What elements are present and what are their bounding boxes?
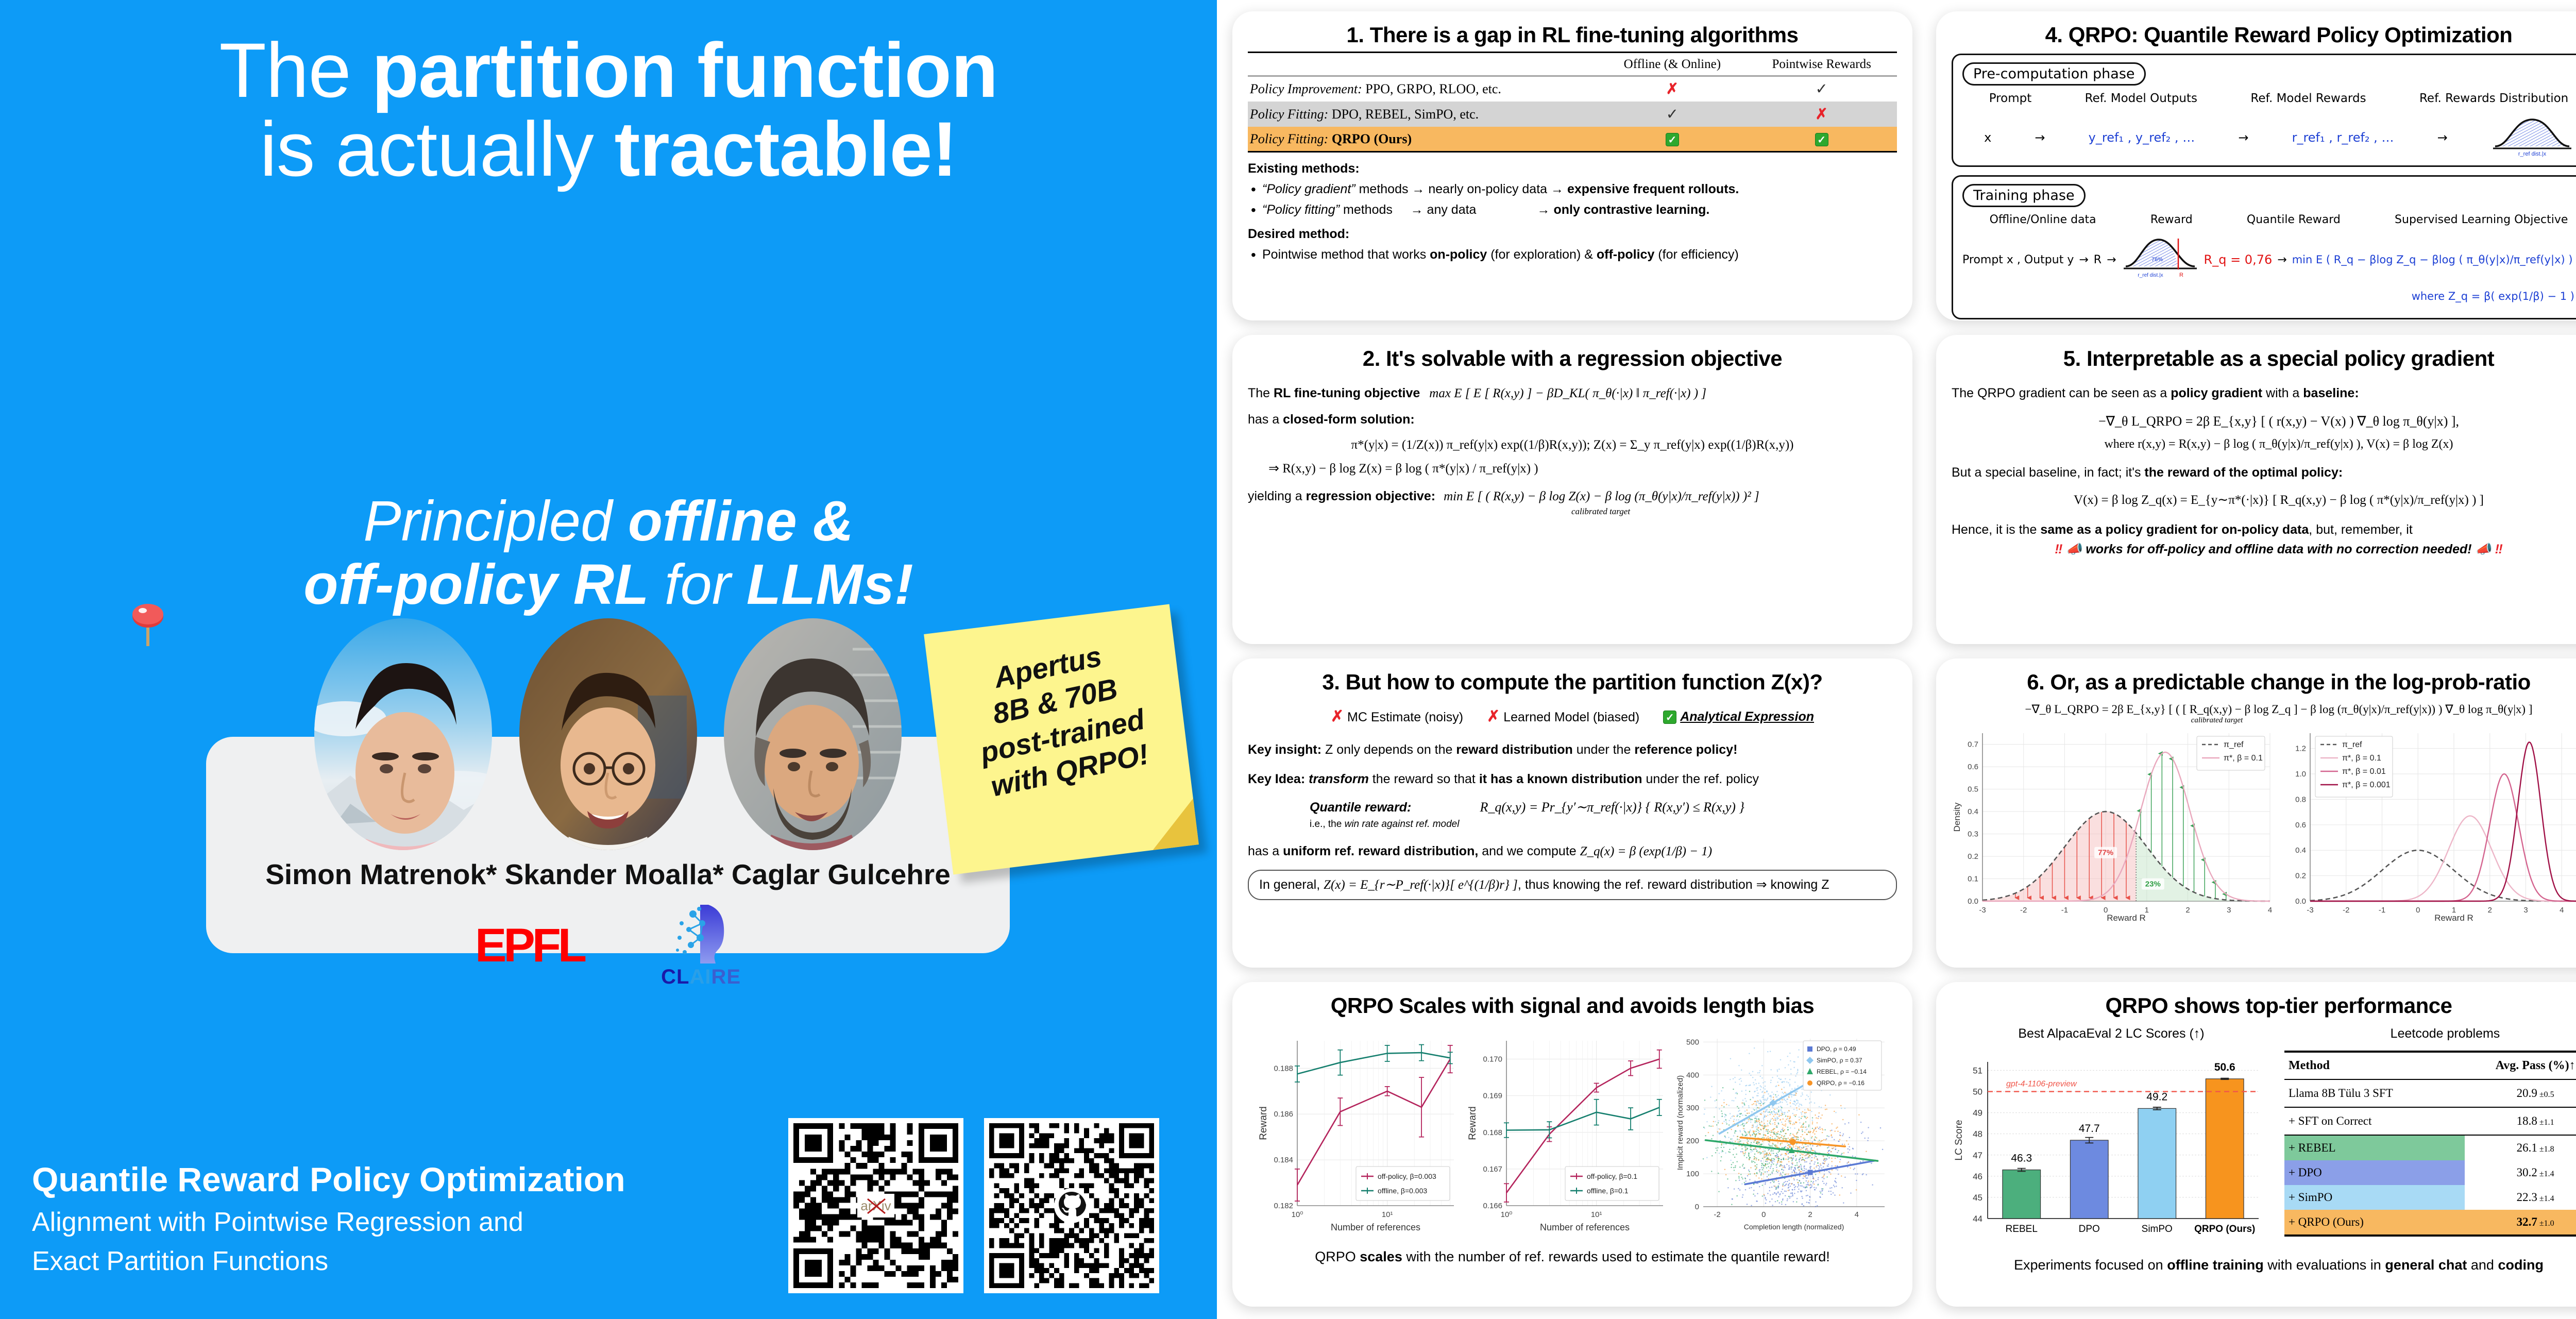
svg-text:Number of references: Number of references — [1331, 1222, 1420, 1232]
svg-text:4: 4 — [2268, 906, 2272, 915]
github-badge-icon — [1053, 1187, 1091, 1225]
card4-title: 4. QRPO: Quantile Reward Policy Optimiza… — [1952, 23, 2576, 47]
svg-text:0.4: 0.4 — [2295, 846, 2306, 855]
svg-text:500: 500 — [1686, 1038, 1699, 1046]
svg-text:0.166: 0.166 — [1483, 1202, 1502, 1210]
leetcode-table-wrap: Leetcode problems Method Avg. Pass (%)↑ … — [2284, 1026, 2576, 1250]
quantile-reward-label: Quantile reward: — [1310, 799, 1459, 817]
svg-text:Number of references: Number of references — [1540, 1222, 1630, 1232]
paper-subtitle-line2: Exact Partition Functions — [32, 1245, 805, 1278]
svg-text:off-policy, β=0.1: off-policy, β=0.1 — [1587, 1172, 1637, 1180]
row1-label-italic: Policy Fitting: — [1250, 107, 1328, 122]
phase2-h3: Supervised Learning Objective — [2395, 213, 2568, 226]
eq-regression: min E [ ( R(x,y) − β log Z(x) − β log (π… — [1444, 487, 1759, 505]
row0-label-rest: PPO, GRPO, RLOO, etc. — [1362, 81, 1501, 96]
svg-text:1.0: 1.0 — [2295, 770, 2306, 779]
eq-r-and-v: where r(x,y) = R(x,y) − β log ( π_θ(y|x)… — [1952, 437, 2576, 451]
svg-text:0.188: 0.188 — [1274, 1064, 1293, 1073]
table-row: + SFT on Correct 18.8 ±1.1 — [2284, 1107, 2576, 1135]
claire-logo: CLAIRE — [661, 903, 741, 989]
chart-density-right: 0.00.20.40.60.81.01.2-3-2-1012345π_refπ*… — [2279, 728, 2576, 925]
phase2-h0: Offline/Online data — [1990, 213, 2096, 226]
card5-line2: But a special baseline, in fact; it's th… — [1952, 464, 2576, 482]
pushpin-icon — [131, 604, 164, 648]
table-row: + REBEL 26.1 ±1.8 — [2284, 1135, 2576, 1160]
svg-text:47: 47 — [1973, 1151, 1982, 1160]
phase1-h2: Ref. Model Rewards — [2250, 92, 2366, 105]
desired-bold2: off-policy — [1597, 247, 1655, 262]
svg-text:DPO, ρ = 0.49: DPO, ρ = 0.49 — [1817, 1045, 1856, 1053]
row2-offline: ✓ — [1598, 127, 1746, 152]
row1-label-rest: DPO, REBEL, SimPO, etc. — [1328, 107, 1479, 122]
bullet0-mid: methods → nearly on-policy data → — [1355, 182, 1567, 196]
desired-post: (for efficiency) — [1654, 247, 1738, 262]
hero-panel: The partition function is actually tract… — [0, 0, 1217, 1319]
svg-text:-2: -2 — [2343, 906, 2349, 915]
card5-title: 5. Interpretable as a special policy gra… — [1952, 346, 2576, 371]
ref-reward-distribution-icon: r_ref dist.|x — [2491, 114, 2573, 158]
row0-pointwise: ✓ — [1746, 76, 1897, 102]
sticky-note-fold — [1147, 799, 1199, 850]
desired-pre: Pointwise method that works — [1262, 247, 1430, 262]
alpaca-bar-wrap: Best AlpacaEval 2 LC Scores (↑) 44454647… — [1952, 1026, 2271, 1250]
phase2-objective: min E ( R_q − βlog Z_q − βlog ( π_θ(y|x)… — [2292, 253, 2576, 266]
svg-text:2: 2 — [1808, 1210, 1812, 1219]
x-icon: ✗ — [1487, 708, 1500, 725]
chart-length-bias: 0100200300400500-2024DPO, ρ = 0.49SimPO,… — [1673, 1031, 1890, 1238]
eq-implies: ⇒ R(x,y) − β log Z(x) = β log ( π*(y|x) … — [1248, 461, 1897, 476]
svg-text:10⁰: 10⁰ — [1501, 1210, 1513, 1219]
claire-head-icon — [670, 903, 732, 963]
desired-method-list: Pointwise method that works on-policy (f… — [1248, 246, 1897, 264]
arrow-icon: → — [2277, 253, 2286, 266]
svg-text:R: R — [2179, 272, 2183, 278]
svg-text:0.6: 0.6 — [2295, 821, 2306, 830]
option-learned-model: ✗ Learned Model (biased) — [1487, 706, 1639, 728]
bullet0-bold: expensive frequent rollouts. — [1567, 182, 1739, 196]
table-row-ours: + QRPO (Ours) 32.7 ±1.0 — [2284, 1210, 2576, 1236]
table-row: + DPO 30.2 ±1.4 — [2284, 1160, 2576, 1185]
phase2-where: where Z_q = β( exp(1/β) − 1 ) — [1962, 290, 2576, 302]
qr-codes: arXiv — [788, 1118, 1159, 1293]
phase2-flow: Prompt x , Output y → R → 76% r_ref dist… — [1962, 234, 2576, 285]
phase2-headers: Offline/Online data Reward Quantile Rewa… — [1962, 213, 2576, 226]
bullet1-quote: “Policy fitting” — [1262, 202, 1340, 217]
phase2-rq: R_q = 0,76 — [2204, 252, 2273, 267]
svg-text:gpt-4-1106-preview: gpt-4-1106-preview — [2006, 1080, 2077, 1089]
row1-pointwise: ✗ — [1746, 102, 1897, 127]
svg-text:50.6: 50.6 — [2214, 1061, 2235, 1073]
megaphone-icon: 📣 — [2066, 542, 2082, 556]
leetcode-col-method: Method — [2284, 1052, 2465, 1079]
svg-text:Reward R: Reward R — [2107, 913, 2146, 923]
qr-code-arxiv[interactable]: arXiv — [788, 1118, 963, 1293]
svg-text:r_ref dist.|x: r_ref dist.|x — [2518, 151, 2547, 157]
avatar-caglar-gulcehre — [724, 618, 902, 850]
phase2-h1: Reward — [2150, 213, 2193, 226]
hero-headline-line1: The partition function — [0, 31, 1217, 110]
paper-title: Quantile Reward Policy Optimization — [32, 1159, 805, 1200]
check-box-icon: ✓ — [1663, 711, 1676, 724]
key-idea: Key Idea: transform the reward so that i… — [1248, 770, 1897, 788]
paper-subtitle-line1: Alignment with Pointwise Regression and — [32, 1206, 805, 1239]
svg-text:π*, β = 0.001: π*, β = 0.001 — [2342, 781, 2391, 789]
svg-text:π*, β = 0.1: π*, β = 0.1 — [2224, 754, 2263, 763]
svg-text:π*, β = 0.01: π*, β = 0.01 — [2342, 767, 2386, 776]
svg-text:0.1: 0.1 — [1968, 875, 1978, 884]
hero-sub-line1: Principled offline & — [0, 489, 1217, 553]
card6-charts: 0.00.10.20.30.40.50.60.7-3-2-10123477%23… — [1952, 728, 2576, 925]
eq-qrpo-gradient: −∇_θ L_QRPO = 2β E_{x,y} [ ( r(x,y) − V(… — [1952, 414, 2576, 429]
hero-headline: The partition function is actually tract… — [0, 31, 1217, 189]
card6-title: 6. Or, as a predictable change in the lo… — [1952, 670, 2576, 695]
arrow-icon: → — [2437, 130, 2448, 145]
option-mc-estimate: ✗ MC Estimate (noisy) — [1331, 706, 1463, 728]
phase1-h3: Ref. Rewards Distribution — [2419, 92, 2568, 105]
x-icon: ✗ — [1331, 708, 1344, 725]
z-options-row: ✗ MC Estimate (noisy) ✗ Learned Model (b… — [1248, 706, 1897, 728]
card2-title: 2. It's solvable with a regression objec… — [1248, 346, 1897, 371]
hero-sub-line1-normal: Principled — [363, 489, 628, 553]
avatar-simon-matrenok — [314, 618, 492, 850]
svg-text:100: 100 — [1686, 1170, 1699, 1178]
svg-text:SimPO, ρ = 0.37: SimPO, ρ = 0.37 — [1817, 1057, 1862, 1064]
svg-text:QRPO, ρ = −0.16: QRPO, ρ = −0.16 — [1817, 1079, 1865, 1087]
svg-text:-1: -1 — [2061, 906, 2068, 915]
list-item: “Policy fitting” methods → any data → on… — [1248, 201, 1897, 219]
key-insight: Key insight: Z only depends on the rewar… — [1248, 741, 1897, 759]
list-item: Pointwise method that works on-policy (f… — [1248, 246, 1897, 264]
quantile-note: i.e., the win rate against ref. model — [1310, 819, 1459, 830]
card5-emphasis: ‼ 📣 works for off-policy and offline dat… — [1952, 542, 2576, 557]
hero-subheadline: Principled offline & off-policy RL for L… — [0, 489, 1217, 616]
phase2-distribution: 76% r_ref dist.|x R — [2122, 234, 2199, 285]
card7-footnote: QRPO scales with the number of ref. rewa… — [1248, 1249, 1897, 1265]
svg-text:10⁰: 10⁰ — [1292, 1210, 1303, 1219]
sticky-note-text: Apertus8B & 70Bpost-trainedwith QRPO! — [923, 624, 1194, 813]
avatar-skander-moalla — [519, 618, 697, 850]
card8-title: QRPO shows top-tier performance — [1952, 993, 2576, 1018]
exclamation-icon: ‼ — [2055, 542, 2062, 556]
svg-text:off-policy, β=0.003: off-policy, β=0.003 — [1378, 1172, 1436, 1180]
svg-text:10¹: 10¹ — [1382, 1210, 1393, 1219]
phase1-h0: Prompt — [1989, 92, 2032, 105]
svg-text:0.0: 0.0 — [2295, 897, 2306, 906]
svg-text:QRPO (Ours): QRPO (Ours) — [2194, 1224, 2255, 1235]
calibrated-target-label: calibrated target — [1828, 716, 2576, 725]
phase1-headers: Prompt Ref. Model Outputs Ref. Model Rew… — [1962, 92, 2576, 105]
eq-baseline: V(x) = β log Z_q(x) = E_{y∼π*(·|x)} [ R_… — [1952, 492, 2576, 508]
svg-text:44: 44 — [1973, 1214, 1982, 1224]
svg-text:Implicit reward (normalized): Implicit reward (normalized) — [1676, 1075, 1685, 1170]
arrow-icon: → — [2238, 130, 2248, 145]
qr-code-github[interactable] — [984, 1118, 1159, 1293]
list-item: “Policy gradient” methods → nearly on-po… — [1248, 180, 1897, 198]
bullet1-bold: only contrastive learning. — [1554, 202, 1710, 217]
methods-comparison-table: Offline (& Online) Pointwise Rewards Pol… — [1248, 52, 1897, 153]
svg-text:0.6: 0.6 — [1968, 763, 1978, 771]
phase1-prompt: x — [1984, 130, 1991, 145]
hero-sub-line2-bold1: off-policy RL — [303, 553, 649, 616]
phase-tag-precomputation: Pre-computation phase — [1962, 62, 2146, 86]
table-row: Policy Improvement: PPO, GRPO, RLOO, etc… — [1248, 76, 1897, 102]
svg-text:REBEL, ρ = −0.14: REBEL, ρ = −0.14 — [1817, 1068, 1867, 1075]
svg-text:Completion length (normalized): Completion length (normalized) — [1744, 1223, 1844, 1231]
row0-offline: ✗ — [1598, 76, 1746, 102]
svg-text:0.168: 0.168 — [1483, 1128, 1502, 1137]
claire-ai: AI — [689, 966, 711, 988]
svg-text:0.7: 0.7 — [1968, 740, 1978, 749]
svg-text:π*, β = 0.1: π*, β = 0.1 — [2342, 754, 2381, 763]
svg-text:400: 400 — [1686, 1071, 1699, 1079]
row2-pointwise: ✓ — [1746, 127, 1897, 152]
svg-text:3: 3 — [2523, 906, 2528, 915]
claire-cl: CL — [661, 966, 689, 988]
quantile-distribution-icon: 76% r_ref dist.|x R — [2122, 234, 2199, 282]
svg-text:3: 3 — [2227, 906, 2231, 915]
card5-line3: Hence, it is the same as a policy gradie… — [1952, 521, 2576, 539]
svg-text:77%: 77% — [2098, 849, 2113, 857]
quantile-reward-row: Quantile reward: i.e., the win rate agai… — [1248, 799, 1897, 830]
author-photos — [314, 618, 902, 855]
svg-text:200: 200 — [1686, 1137, 1699, 1145]
svg-text:46.3: 46.3 — [2011, 1153, 2032, 1164]
bar-chart-title: Best AlpacaEval 2 LC Scores (↑) — [1952, 1026, 2271, 1041]
svg-text:49: 49 — [1973, 1108, 1982, 1118]
table-row: Llama 8B Tülu 3 SFT 20.9 ±0.5 — [2284, 1079, 2576, 1107]
check-box-icon: ✓ — [1815, 133, 1828, 146]
eq-rl-objective: max E [ E [ R(x,y) ] − βD_KL( π_θ(·|x) ‖… — [1429, 384, 1706, 402]
svg-text:0.3: 0.3 — [1968, 830, 1978, 839]
leetcode-header-row: Method Avg. Pass (%)↑ — [2284, 1052, 2576, 1079]
svg-text:r_ref dist.|x: r_ref dist.|x — [2138, 273, 2163, 278]
hero-sub-line2: off-policy RL for LLMs! — [0, 553, 1217, 616]
svg-text:51: 51 — [1973, 1066, 1982, 1075]
svg-text:0.2: 0.2 — [1968, 852, 1978, 861]
hero-sub-line2-bold2: LLMs! — [747, 553, 913, 616]
poster-footer-title: Quantile Reward Policy Optimization Alig… — [32, 1159, 805, 1278]
eq-logprob-gradient: −∇_θ L_QRPO = 2β E_{x,y} [ ( [ R_q(x,y) … — [1952, 703, 2576, 716]
hero-headline-line2: is actually tractable! — [0, 110, 1217, 189]
hero-headline-line1-normal: The — [219, 27, 371, 113]
bullet0-quote: “Policy gradient” — [1262, 182, 1355, 196]
arrow-icon: → — [2035, 130, 2045, 145]
svg-text:DPO: DPO — [2079, 1224, 2100, 1235]
svg-text:23%: 23% — [2145, 880, 2161, 889]
hero-headline-line2-bold: tractable! — [615, 106, 957, 192]
claire-wordmark: CLAIRE — [661, 966, 741, 989]
phase2-reward: R — [2094, 253, 2102, 266]
svg-text:Reward R: Reward R — [2434, 913, 2473, 923]
svg-text:0.186: 0.186 — [1274, 1110, 1293, 1119]
epfl-logo: EPFL — [475, 919, 584, 973]
bullet1-mid: methods → any data → — [1340, 202, 1553, 217]
existing-methods-list: “Policy gradient” methods → nearly on-po… — [1248, 180, 1897, 219]
phase2-h2: Quantile Reward — [2247, 213, 2341, 226]
sticky-note: Apertus8B & 70Bpost-trainedwith QRPO! — [924, 604, 1199, 875]
svg-text:-1: -1 — [2379, 906, 2385, 915]
svg-text:Density: Density — [1952, 802, 1962, 832]
desired-mid: (for exploration) & — [1487, 247, 1597, 262]
svg-text:2: 2 — [2185, 906, 2190, 915]
svg-text:4: 4 — [2560, 906, 2564, 915]
hero-sub-line1-bold: offline & — [628, 489, 854, 553]
col-pointwise: Pointwise Rewards — [1746, 53, 1897, 76]
svg-text:0.184: 0.184 — [1274, 1156, 1293, 1164]
content-grid: 1. There is a gap in RL fine-tuning algo… — [1217, 0, 2576, 1319]
card8-footnote: Experiments focused on offline training … — [1952, 1257, 2576, 1273]
svg-text:50: 50 — [1973, 1087, 1982, 1097]
svg-text:1.2: 1.2 — [2295, 745, 2306, 753]
svg-text:0.167: 0.167 — [1483, 1165, 1502, 1174]
row2-label-italic: Policy Fitting: — [1250, 131, 1328, 146]
hero-headline-line2-normal: is actually — [260, 106, 614, 192]
svg-text:0.4: 0.4 — [1968, 807, 1978, 816]
desired-method-heading: Desired method: — [1248, 225, 1897, 243]
svg-text:SimPO: SimPO — [2142, 1224, 2173, 1235]
svg-text:0: 0 — [1695, 1203, 1699, 1211]
phase-tag-training: Training phase — [1962, 184, 2086, 207]
svg-text:45: 45 — [1973, 1193, 1982, 1203]
exclamation-icon: ‼ — [2495, 542, 2503, 556]
svg-text:0.170: 0.170 — [1483, 1055, 1502, 1064]
card-policy-gradient: 5. Interpretable as a special policy gra… — [1936, 335, 2576, 644]
svg-text:47.7: 47.7 — [2079, 1123, 2100, 1135]
phase1-rewards: r_ref₁ , r_ref₂ , … — [2292, 130, 2394, 145]
svg-text:REBEL: REBEL — [2006, 1224, 2038, 1235]
author-names: Simon Matrenok* Skander Moalla* Caglar G… — [206, 858, 1010, 891]
card-regression-objective: 2. It's solvable with a regression objec… — [1232, 335, 1912, 644]
svg-text:0.182: 0.182 — [1274, 1202, 1293, 1210]
uniform-dist-line: has a uniform ref. reward distribution, … — [1248, 842, 1897, 860]
card-partition-function: 3. But how to compute the partition func… — [1232, 658, 1912, 968]
arrow-icon: → — [2079, 253, 2088, 266]
svg-text:-2: -2 — [2020, 906, 2027, 915]
calibrated-target-label: calibrated target — [1304, 506, 1897, 517]
svg-text:0.8: 0.8 — [2295, 795, 2306, 804]
svg-text:0: 0 — [1761, 1210, 1766, 1219]
chart-density-left: 0.00.10.20.30.40.50.60.7-3-2-10123477%23… — [1952, 728, 2276, 925]
institution-logos: EPFL CLAIRE — [206, 907, 1010, 984]
svg-text:48: 48 — [1973, 1129, 1982, 1139]
eq-quantile-reward: R_q(x,y) = Pr_{y′∼π_ref(·|x)} { R(x,y′) … — [1480, 800, 1744, 815]
leetcode-title: Leetcode problems — [2284, 1026, 2576, 1041]
card2-line3: yielding a regression objective: — [1248, 487, 1435, 505]
phase2-input: Prompt x , Output y — [1962, 253, 2074, 266]
check-box-icon: ✓ — [1666, 133, 1679, 146]
hero-headline-line1-bold: partition function — [372, 27, 998, 113]
svg-text:0.5: 0.5 — [1968, 785, 1978, 794]
svg-text:LC Score: LC Score — [1954, 1120, 1964, 1160]
megaphone-icon: 📣 — [2476, 542, 2492, 556]
phase1-h1: Ref. Model Outputs — [2085, 92, 2197, 105]
training-phase-box: Training phase Offline/Online data Rewar… — [1952, 175, 2576, 319]
chart-scale-beta01: 0.1660.1670.1680.1690.17010⁰10¹off-polic… — [1464, 1031, 1670, 1238]
phase1-outputs: y_ref₁ , y_ref₂ , … — [2089, 130, 2195, 145]
svg-text:-3: -3 — [2307, 906, 2313, 915]
existing-methods-heading: Existing methods: — [1248, 161, 1360, 176]
phase1-distribution: r_ref dist.|x — [2491, 114, 2573, 161]
svg-text:-2: -2 — [1714, 1210, 1720, 1219]
general-z-box: In general, Z(x) = E_{r∼P_ref(·|x)}[ e^{… — [1248, 870, 1897, 900]
chart-alpaca-bar: 444546474849505146.3REBEL47.7DPO49.2SimP… — [1952, 1041, 2271, 1247]
phase1-flow: x → y_ref₁ , y_ref₂ , … → r_ref₁ , r_ref… — [1962, 114, 2576, 161]
leetcode-table: Method Avg. Pass (%)↑ Llama 8B Tülu 3 SF… — [2284, 1051, 2576, 1237]
table-header-row: Offline (& Online) Pointwise Rewards — [1248, 53, 1897, 76]
card7-charts: 0.1820.1840.1860.18810⁰10¹off-policy, β=… — [1248, 1031, 1897, 1238]
card-logprob-ratio: 6. Or, as a predictable change in the lo… — [1936, 658, 2576, 968]
card2-line2: has a closed-form solution: — [1248, 411, 1897, 429]
svg-text:4: 4 — [1855, 1210, 1859, 1219]
option-analytical: ✓ Analytical Expression — [1663, 708, 1814, 726]
table-row: Policy Fitting: DPO, REBEL, SimPO, etc. … — [1248, 102, 1897, 127]
card-qrpo-scales: QRPO Scales with signal and avoids lengt… — [1232, 982, 1912, 1307]
table-row-ours: Policy Fitting: QRPO (Ours) ✓ ✓ — [1248, 127, 1897, 152]
svg-text:Reward: Reward — [1467, 1106, 1478, 1140]
svg-text:300: 300 — [1686, 1104, 1699, 1112]
svg-text:0.2: 0.2 — [2295, 872, 2306, 881]
svg-text:offline, β=0.003: offline, β=0.003 — [1378, 1187, 1427, 1195]
svg-text:π_ref: π_ref — [2224, 740, 2244, 749]
table-row: + SimPO 22.3 ±1.4 — [2284, 1185, 2576, 1210]
svg-text:0.0: 0.0 — [1968, 897, 1978, 906]
card3-title: 3. But how to compute the partition func… — [1248, 670, 1897, 695]
arrow-icon: → — [2107, 253, 2116, 266]
hero-sub-line2-normal: for — [649, 553, 747, 616]
card-gap-in-rl: 1. There is a gap in RL fine-tuning algo… — [1232, 11, 1912, 320]
card2-line1: The RL fine-tuning objective — [1248, 384, 1420, 402]
svg-text:49.2: 49.2 — [2146, 1091, 2167, 1103]
svg-text:2: 2 — [2488, 906, 2492, 915]
card8-content: Best AlpacaEval 2 LC Scores (↑) 44454647… — [1952, 1026, 2576, 1250]
card1-title: 1. There is a gap in RL fine-tuning algo… — [1248, 23, 1897, 47]
col-offline: Offline (& Online) — [1598, 53, 1746, 76]
card-qrpo-overview: 4. QRPO: Quantile Reward Policy Optimiza… — [1936, 11, 2576, 320]
eq-closed-form: π*(y|x) = (1/Z(x)) π_ref(y|x) exp((1/β)R… — [1248, 438, 1897, 452]
svg-text:10¹: 10¹ — [1591, 1210, 1602, 1219]
svg-text:π_ref: π_ref — [2342, 740, 2362, 749]
leetcode-col-pass: Avg. Pass (%)↑ — [2465, 1052, 2576, 1079]
svg-text:46: 46 — [1973, 1172, 1982, 1181]
row0-label-italic: Policy Improvement: — [1250, 81, 1362, 96]
desired-bold1: on-policy — [1430, 247, 1487, 262]
svg-text:76%: 76% — [2151, 257, 2163, 263]
card5-line1: The QRPO gradient can be seen as a polic… — [1952, 384, 2576, 402]
claire-re: RE — [711, 966, 741, 988]
svg-text:Reward: Reward — [1258, 1106, 1269, 1140]
svg-text:-3: -3 — [1979, 906, 1986, 915]
svg-text:offline, β=0.1: offline, β=0.1 — [1587, 1187, 1629, 1195]
arxiv-badge-icon: arXiv — [857, 1194, 894, 1217]
chart-scale-beta0003: 0.1820.1840.1860.18810⁰10¹off-policy, β=… — [1255, 1031, 1461, 1238]
card7-title: QRPO Scales with signal and avoids lengt… — [1248, 993, 1897, 1018]
svg-text:0: 0 — [2416, 906, 2420, 915]
card-top-tier-performance: QRPO shows top-tier performance Best Alp… — [1936, 982, 2576, 1307]
precomputation-phase-box: Pre-computation phase Prompt Ref. Model … — [1952, 54, 2576, 167]
row1-offline: ✓ — [1598, 102, 1746, 127]
svg-text:0.169: 0.169 — [1483, 1092, 1502, 1101]
row2-label-rest: QRPO (Ours) — [1328, 131, 1412, 146]
